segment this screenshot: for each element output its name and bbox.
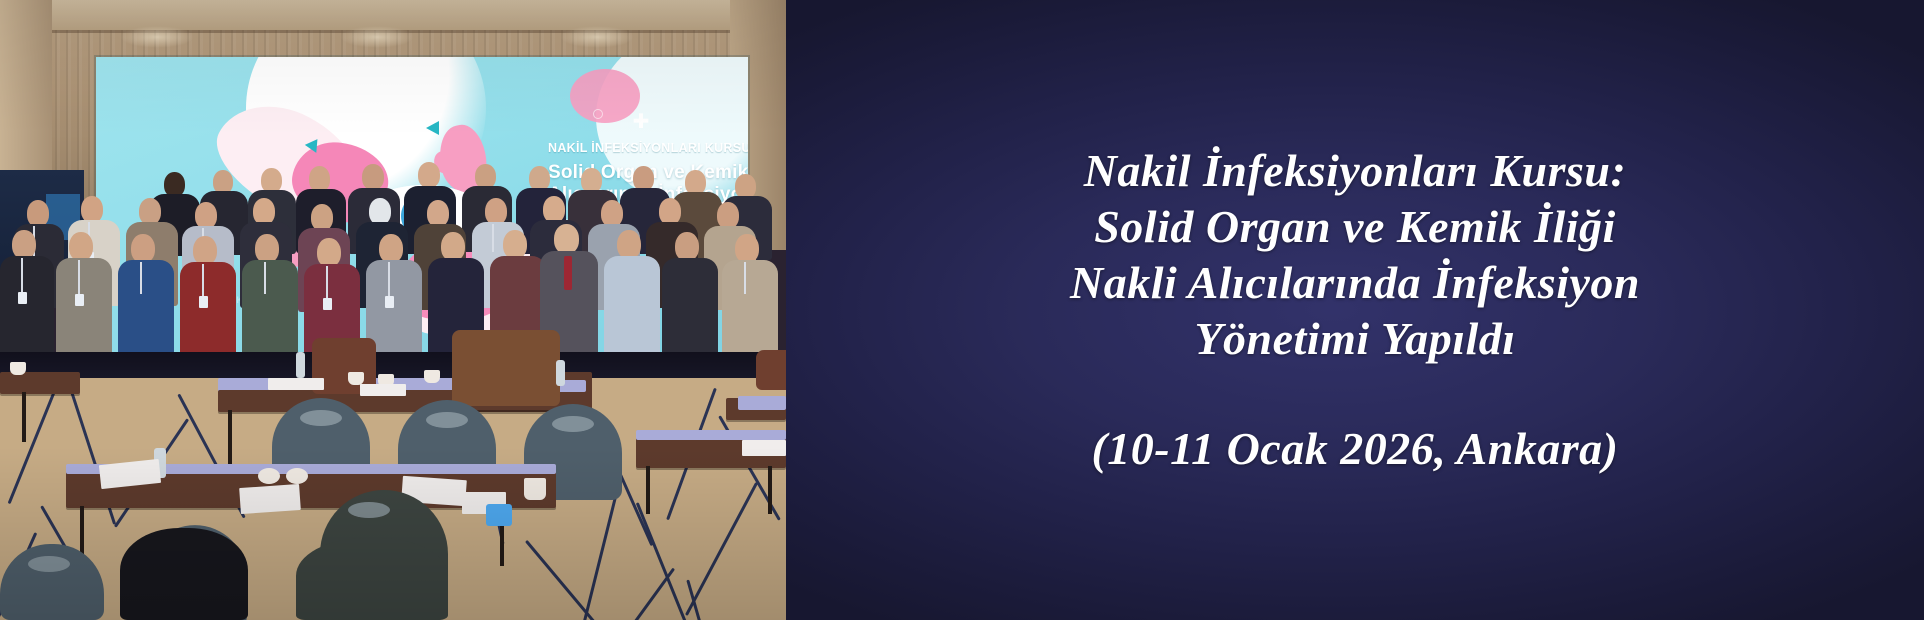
coffee-cup [10,362,26,375]
water-bottle [296,352,305,378]
teal-arrow-icon [426,121,439,135]
headline-line-4: Yönetimi Yapıldı [832,311,1878,367]
ceiling-spotlight [560,26,634,48]
screen-eyebrow: NAKİL İNFEKSİYONLARI KURSU 2026 [548,141,748,156]
medical-cross-icon: ✚ [632,113,650,131]
table-top-highlight [636,430,786,440]
coffee-cup [524,478,546,500]
ceiling-spotlight [340,26,414,48]
decorative-ring-icon [593,109,603,119]
headline-panel: Nakil İnfeksiyonları Kursu: Solid Organ … [786,0,1924,620]
headline-line-2: Solid Organ ve Kemik İliği [832,199,1878,255]
coffee-cup [286,468,308,484]
tote-bag [452,330,560,406]
event-date-location: (10-11 Ocak 2026, Ankara) [832,421,1878,477]
side-table [0,372,80,394]
tote-bag [756,350,786,390]
ceiling-band [0,0,786,30]
headline-spacer [832,367,1878,421]
water-bottle [556,360,565,386]
table-top-highlight [738,396,786,410]
organ-illustration [570,69,640,123]
headline-line-1: Nakil İnfeksiyonları Kursu: [832,143,1878,199]
coffee-cup [424,370,440,383]
coffee-cup [258,468,280,484]
notepad [360,384,406,396]
headline-line-3: Nakli Alıcılarında İnfeksiyon [832,255,1878,311]
smartphone [486,504,512,526]
notepad [239,484,301,514]
notepad [742,440,786,456]
ceiling-spotlight [120,26,194,48]
group-photo-conference: ✚ NAKİL İNFEKSİYONLARI KURSU 2026 Solid … [0,0,786,620]
seated-attendee [296,538,448,620]
page-title: Nakil İnfeksiyonları Kursu: Solid Organ … [832,143,1878,367]
news-hero-banner: ✚ NAKİL İNFEKSİYONLARI KURSU 2026 Solid … [0,0,1924,620]
seated-attendee [120,528,248,620]
notepad [268,378,324,390]
